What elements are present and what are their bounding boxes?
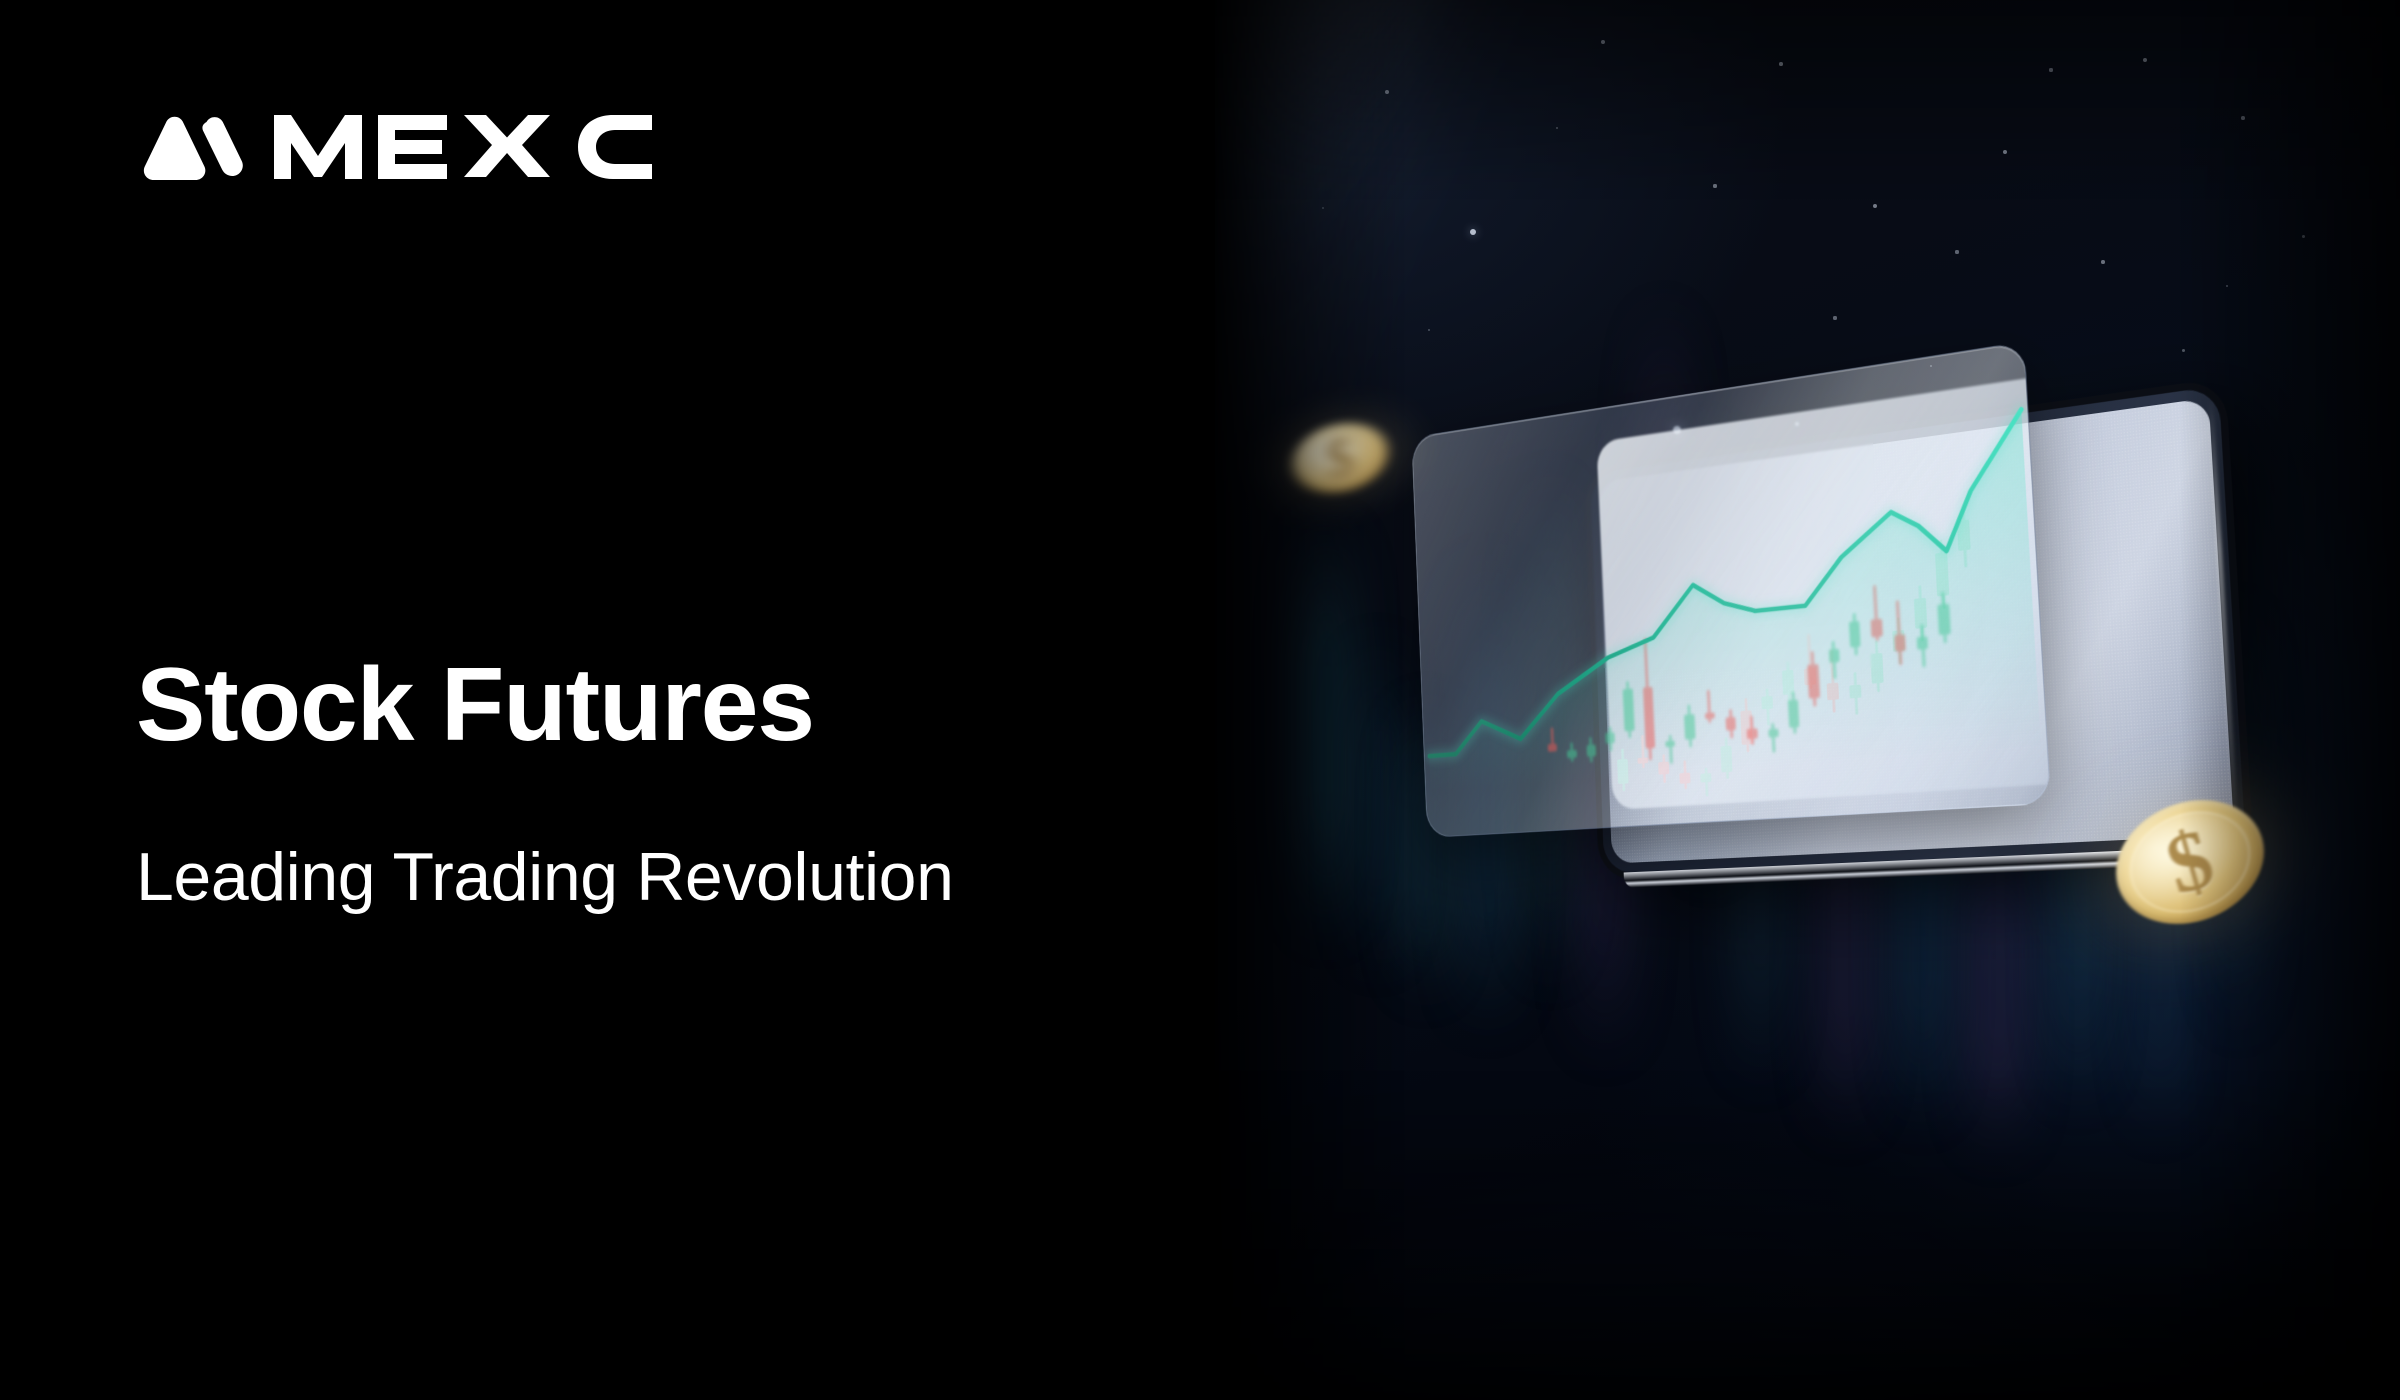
mexc-logo[interactable] — [136, 113, 652, 186]
glass-overlay-panel — [1411, 341, 2051, 838]
mexc-wordmark — [274, 113, 652, 186]
mexc-triangle-slash-icon — [136, 114, 248, 186]
hero-banner: $$ Stock — [0, 0, 2400, 1400]
panel-bottom-vignette — [1215, 1070, 2400, 1400]
illustration-panel: $$ — [1215, 0, 2400, 1400]
page-title: Stock Futures — [136, 653, 814, 757]
glass-sheen — [1412, 342, 2050, 836]
page-subtitle: Leading Trading Revolution — [136, 843, 954, 911]
